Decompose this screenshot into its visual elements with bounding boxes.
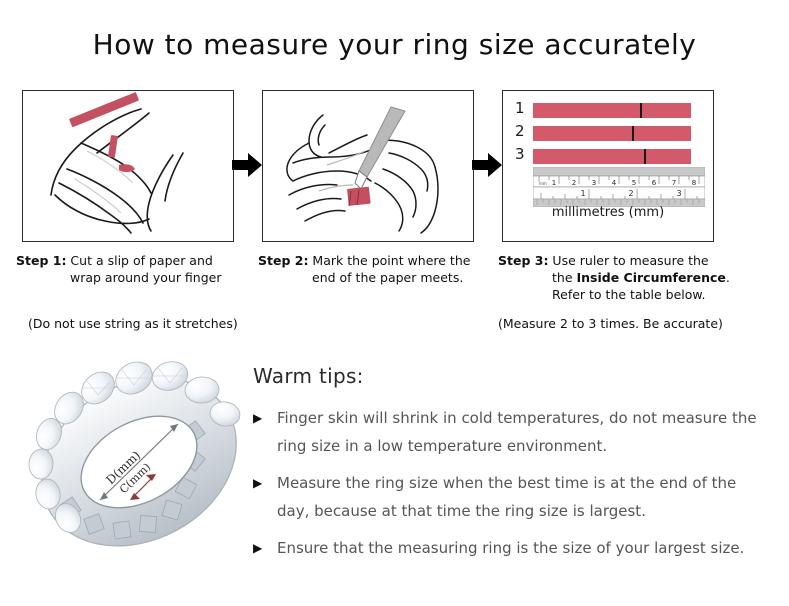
step-3-line2: the Inside Circumference. bbox=[498, 269, 734, 286]
step-3-line2-pre: the bbox=[552, 270, 577, 285]
svg-text:7: 7 bbox=[672, 179, 676, 187]
step-3-line1: Use ruler to measure the bbox=[548, 253, 708, 268]
warm-tips-heading: Warm tips: bbox=[253, 364, 773, 388]
tip-2-text: Measure the ring size when the best time… bbox=[277, 474, 736, 520]
triangle-bullet-icon: ▶ bbox=[253, 404, 262, 432]
step-3-line2-post: . bbox=[726, 270, 730, 285]
steps-row: 1 2 3 bbox=[0, 90, 789, 250]
page-title: How to measure your ring size accurately bbox=[0, 28, 789, 61]
tip-item-3: ▶ Ensure that the measuring ring is the … bbox=[253, 534, 773, 562]
step-2-illustration-panel bbox=[262, 90, 474, 242]
svg-text:3: 3 bbox=[592, 179, 596, 187]
step-3-note: (Measure 2 to 3 times. Be accurate) bbox=[498, 316, 723, 331]
step-2-line1: Mark the point where the bbox=[308, 253, 470, 268]
step-3-lead: Step 3: bbox=[498, 253, 548, 268]
step-1-line1: Cut a slip of paper and bbox=[66, 253, 212, 268]
svg-text:1: 1 bbox=[580, 189, 585, 198]
triangle-bullet-icon-2: ▶ bbox=[253, 469, 262, 497]
ruler-unit-label: millimetres (mm) bbox=[503, 205, 713, 220]
svg-text:2: 2 bbox=[572, 179, 576, 187]
strip-3-bar bbox=[533, 149, 691, 164]
inside-circumference-emphasis: Inside Circumference bbox=[577, 270, 726, 285]
strip-2-number: 2 bbox=[515, 123, 529, 140]
svg-text:8: 8 bbox=[692, 179, 696, 187]
strip-3-mark bbox=[644, 149, 646, 164]
step-1-line2: wrap around your finger bbox=[16, 269, 252, 286]
strip-1-number: 1 bbox=[515, 100, 529, 117]
svg-text:3: 3 bbox=[676, 189, 681, 198]
arrow-right-glyph bbox=[232, 152, 262, 178]
svg-text:mm: mm bbox=[539, 181, 547, 186]
strip-2-bar bbox=[533, 126, 691, 141]
hand-with-paper-strip-illustration bbox=[23, 91, 233, 241]
step-1-caption: Step 1: Cut a slip of paper and wrap aro… bbox=[16, 252, 252, 286]
ring-diagram: D(mm) C(mm) bbox=[28, 352, 250, 566]
step-2-lead: Step 2: bbox=[258, 253, 308, 268]
step-3-line3: Refer to the table below. bbox=[498, 286, 734, 303]
arrow-right-icon-2 bbox=[472, 152, 502, 178]
svg-text:1: 1 bbox=[552, 179, 556, 187]
svg-text:6: 6 bbox=[652, 179, 657, 187]
tip-1-text: Finger skin will shrink in cold temperat… bbox=[277, 409, 757, 455]
strip-3-number: 3 bbox=[515, 146, 529, 163]
step-2-caption: Step 2: Mark the point where the end of … bbox=[258, 252, 494, 286]
svg-text:4: 4 bbox=[612, 179, 617, 187]
step-1-lead: Step 1: bbox=[16, 253, 66, 268]
tip-3-text: Ensure that the measuring ring is the si… bbox=[277, 539, 744, 557]
step-2-line2: end of the paper meets. bbox=[258, 269, 494, 286]
ruler-icon: 123 456 78 mm 123 bbox=[533, 167, 705, 207]
step-1-note: (Do not use string as it stretches) bbox=[28, 316, 238, 331]
strip-2-mark bbox=[632, 126, 634, 141]
diamond-eternity-ring-photo: D(mm) C(mm) bbox=[28, 352, 250, 566]
warm-tips-section: Warm tips: ▶ Finger skin will shrink in … bbox=[253, 364, 773, 571]
svg-text:5: 5 bbox=[632, 179, 636, 187]
step-3-caption: Step 3: Use ruler to measure the the Ins… bbox=[498, 252, 734, 303]
svg-text:2: 2 bbox=[628, 189, 633, 198]
arrow-right-glyph-2 bbox=[472, 152, 502, 178]
step-3-illustration-panel: 1 2 3 bbox=[502, 90, 714, 242]
strip-1-mark bbox=[640, 103, 642, 118]
hands-marking-paper-illustration bbox=[263, 91, 473, 241]
triangle-bullet-icon-3: ▶ bbox=[253, 534, 262, 562]
tip-item-1: ▶ Finger skin will shrink in cold temper… bbox=[253, 404, 773, 460]
strip-1-bar bbox=[533, 103, 691, 118]
tip-item-2: ▶ Measure the ring size when the best ti… bbox=[253, 469, 773, 525]
step-1-illustration-panel bbox=[22, 90, 234, 242]
arrow-right-icon bbox=[232, 152, 262, 178]
